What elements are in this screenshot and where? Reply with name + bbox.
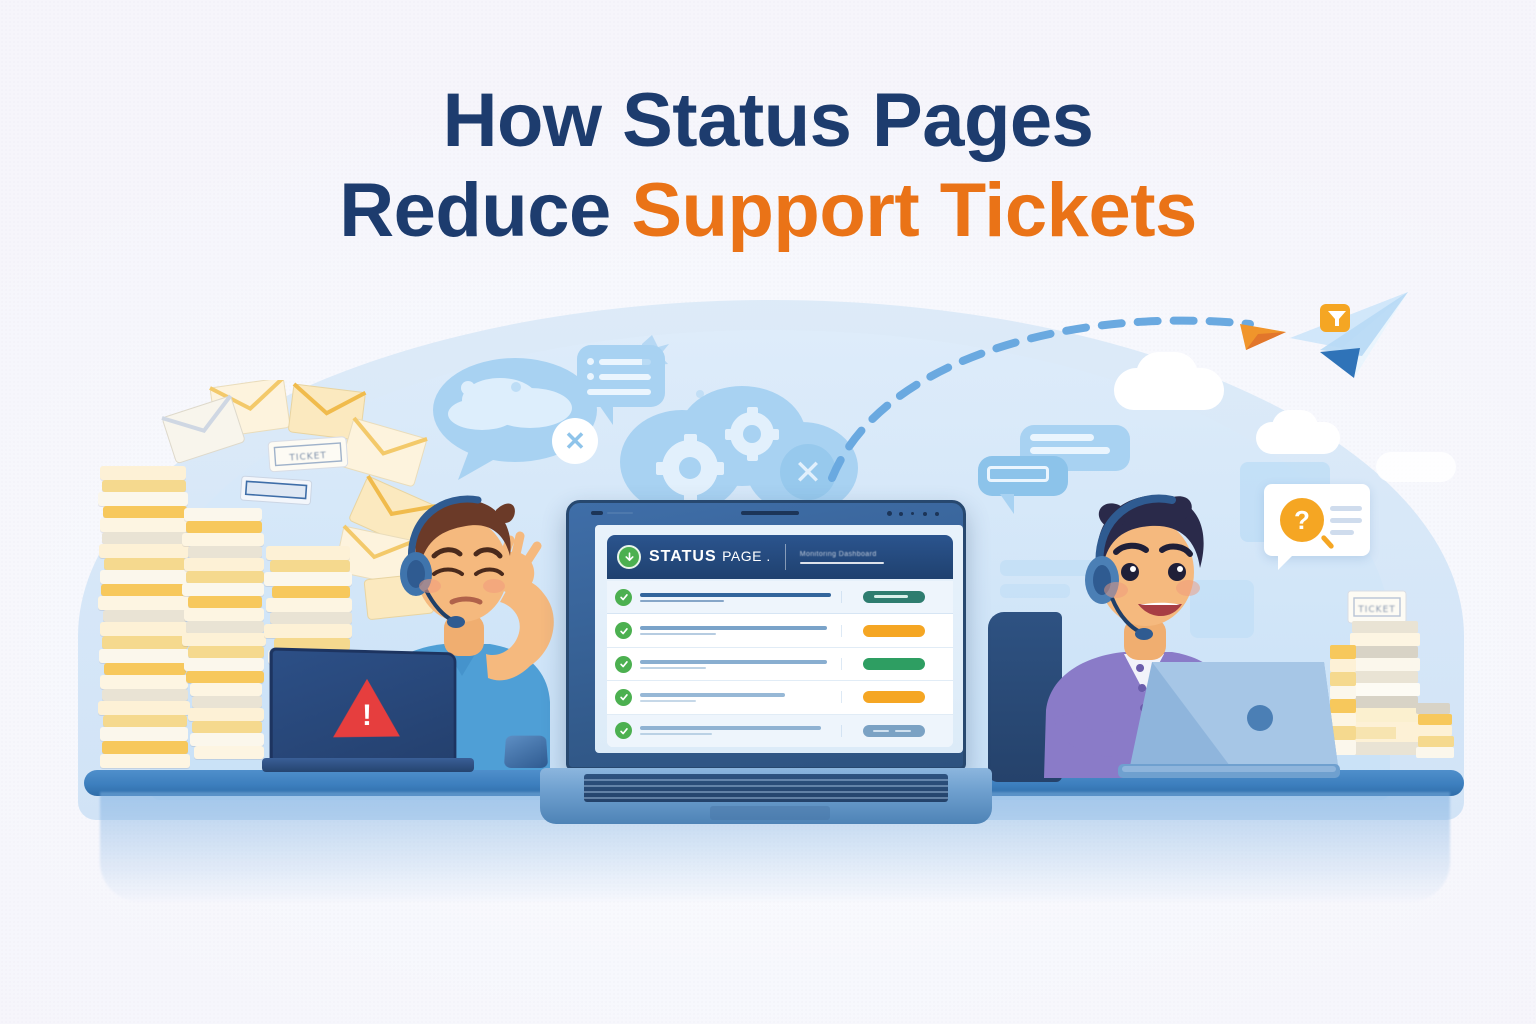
status-cell [841, 658, 945, 670]
ticket-stack-right: TICKET [1330, 585, 1470, 775]
svg-text:✕: ✕ [794, 453, 823, 493]
illustration-canvas: How Status Pages Reduce Support Tickets … [0, 0, 1536, 1024]
check-circle-icon [615, 656, 632, 673]
row-text-placeholder [640, 660, 841, 669]
check-circle-icon [615, 622, 632, 639]
row-text-placeholder [640, 626, 841, 635]
magnifier-question-icon: ? [1280, 498, 1324, 542]
row-text-placeholder [640, 593, 841, 602]
table-row[interactable] [607, 581, 953, 614]
cloud-icon [1376, 452, 1456, 482]
laptop-base [540, 768, 992, 824]
status-page-header: STATUS PAGE . Monitoring Dashboard [607, 535, 953, 579]
x-mark-icon: ✕ [552, 418, 598, 464]
check-circle-icon [615, 689, 632, 706]
table-row[interactable] [607, 681, 953, 714]
bezel-dot [899, 512, 903, 516]
computer-mouse-icon [504, 736, 548, 768]
decor-sparks [494, 332, 734, 422]
status-page-meta: Monitoring Dashboard [800, 551, 943, 564]
page-title: How Status Pages Reduce Support Tickets [0, 82, 1536, 249]
row-text-placeholder [640, 693, 841, 702]
row-text-placeholder [640, 726, 841, 735]
title-line-2: Reduce Support Tickets [0, 172, 1536, 250]
download-circle-icon [617, 545, 641, 569]
bezel-dot [887, 511, 892, 516]
warning-exclamation: ! [362, 699, 372, 733]
title-line-2-prefix: Reduce [339, 168, 631, 253]
check-circle-icon [615, 589, 632, 606]
status-badge [863, 658, 925, 670]
check-circle-icon [615, 722, 632, 739]
bezel-line [607, 512, 633, 514]
cloud-icon [1136, 352, 1198, 398]
laptop-screen: STATUS PAGE . Monitoring Dashboard [595, 525, 963, 753]
status-cell [841, 591, 945, 603]
status-cell [841, 725, 945, 737]
bezel-dot [935, 512, 939, 516]
status-page-meta-rule [800, 562, 884, 564]
left-agent-laptop-base [262, 758, 474, 772]
left-agent-laptop: ! [270, 647, 457, 770]
laptop-lid: STATUS PAGE . Monitoring Dashboard [566, 500, 966, 770]
bezel-indicator [591, 511, 603, 515]
laptop-keyboard [584, 774, 948, 802]
faq-card: ? [1264, 484, 1370, 556]
table-row[interactable] [607, 648, 953, 681]
status-badge [863, 625, 925, 637]
status-page-rows [607, 581, 953, 747]
status-cell [841, 691, 945, 703]
title-accent-text: Support Tickets [631, 168, 1196, 253]
large-paper-plane-icon [1276, 286, 1426, 386]
table-row[interactable] [607, 614, 953, 647]
table-row[interactable] [607, 715, 953, 747]
status-page-title: STATUS PAGE . [649, 548, 771, 566]
status-cell [841, 625, 945, 637]
status-page-title-bold: STATUS [649, 548, 717, 565]
camera-bar [741, 511, 799, 515]
bezel-dot [911, 512, 914, 515]
header-divider [785, 544, 786, 570]
right-agent-laptop [1110, 658, 1340, 786]
status-badge [863, 691, 925, 703]
cloud-icon [1272, 410, 1318, 444]
status-page-title-light: PAGE . [722, 548, 771, 564]
svg-text:TICKET: TICKET [1357, 605, 1396, 615]
center-laptop: STATUS PAGE . Monitoring Dashboard [556, 500, 976, 800]
laptop-trackpad [710, 806, 830, 820]
status-badge [863, 591, 925, 603]
title-line-1: How Status Pages [0, 82, 1536, 160]
status-page-meta-text: Monitoring Dashboard [800, 551, 943, 558]
status-badge [863, 725, 925, 737]
bezel-dot [923, 512, 927, 516]
